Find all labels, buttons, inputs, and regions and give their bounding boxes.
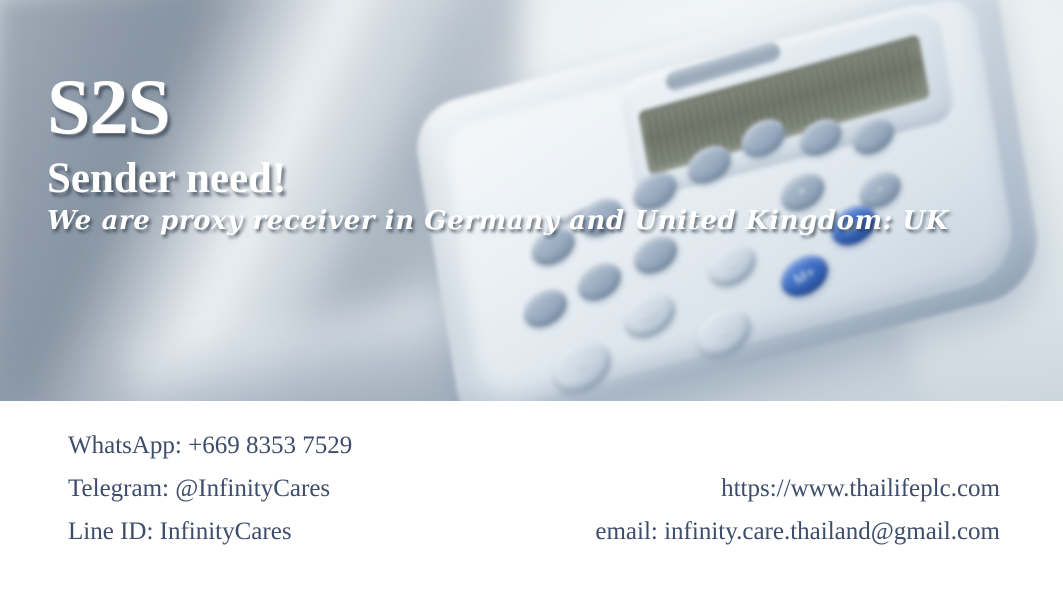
contact-telegram[interactable]: Telegram: @InfinityCares (68, 467, 498, 510)
contact-line-id[interactable]: Line ID: InfinityCares (68, 510, 498, 553)
contact-footer: WhatsApp: +669 8353 7529 Telegram: @Infi… (0, 401, 1063, 600)
contact-column-left: WhatsApp: +669 8353 7529 Telegram: @Infi… (68, 424, 498, 553)
contact-website-link[interactable]: https://www.thailifeplc.com (500, 467, 1000, 510)
page-title: Sender need! (47, 157, 286, 200)
business-card: ×÷M−M+−+/−+= S2S Sender need! We are pro… (0, 0, 1063, 600)
headline-block: S2S Sender need! We are proxy receiver i… (0, 0, 1063, 401)
brand-logo-text: S2S (47, 68, 170, 146)
hero-photo-banner: ×÷M−M+−+/−+= S2S Sender need! We are pro… (0, 0, 1063, 401)
tagline-text: We are proxy receiver in Germany and Uni… (47, 208, 949, 234)
contact-column-right: https://www.thailifeplc.com email: infin… (500, 424, 1000, 553)
contact-whatsapp[interactable]: WhatsApp: +669 8353 7529 (68, 424, 498, 467)
contact-email-link[interactable]: email: infinity.care.thailand@gmail.com (500, 510, 1000, 553)
